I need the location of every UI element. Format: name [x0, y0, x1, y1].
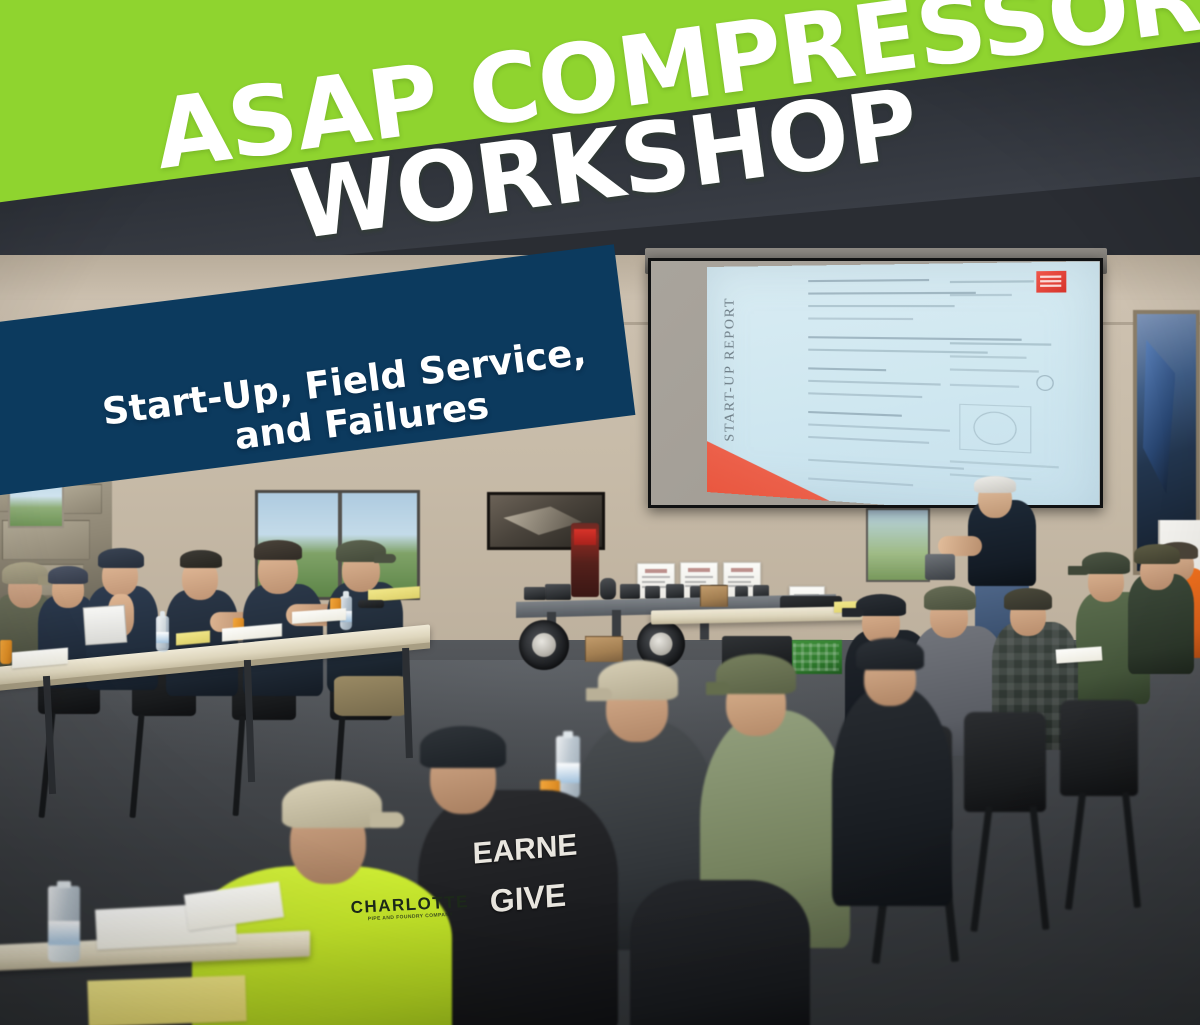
tee-slogan-line2: GIVE: [478, 880, 579, 918]
workshop-poster: START-UP REPORT: [0, 0, 1200, 1025]
water-bottle-icon: [48, 886, 80, 962]
device-icon: [358, 600, 384, 608]
projected-slide: START-UP REPORT: [707, 261, 1100, 505]
red-logo-mark: [1036, 271, 1066, 293]
held-part-icon: [925, 554, 955, 580]
chair-icon: [1060, 700, 1138, 796]
water-bottle-icon: [156, 616, 169, 652]
laptop-icon: [83, 605, 128, 646]
drink-cup-icon: [0, 640, 12, 664]
chair-icon: [964, 712, 1046, 812]
projection-screen: START-UP REPORT: [648, 258, 1103, 508]
window-icon: [866, 508, 930, 582]
cardboard-box: [700, 585, 728, 607]
slide-vertical-title: START-UP REPORT: [723, 297, 739, 442]
compressor-unit-icon: [571, 523, 599, 597]
notepad-icon: [87, 975, 247, 1025]
